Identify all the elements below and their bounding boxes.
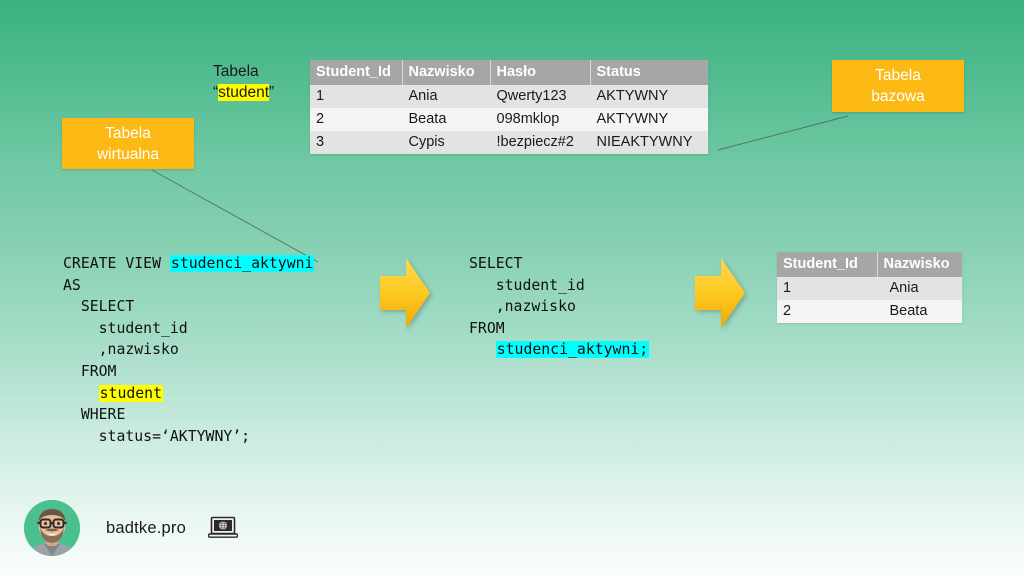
col-header-status: Status xyxy=(590,60,708,85)
sql-select-line3: ,nazwisko xyxy=(469,298,576,315)
sql-create-line7-indent xyxy=(63,385,99,402)
cell-nazwisko: Beata xyxy=(877,300,962,323)
sql-create-line5: ,nazwisko xyxy=(63,341,179,358)
callout-tabela-bazowa: Tabela bazowa xyxy=(832,60,964,112)
cell-haslo: 098mklop xyxy=(490,108,590,131)
avatar xyxy=(24,500,80,556)
cell-nazwisko: Ania xyxy=(402,85,490,108)
footer-branding: badtke.pro xyxy=(24,500,238,556)
cell-nazwisko: Ania xyxy=(877,277,962,300)
cell-haslo: !bezpiecz#2 xyxy=(490,131,590,154)
label-student-line1: Tabela xyxy=(213,61,274,82)
arrow-right-icon-1 xyxy=(380,258,430,333)
table-row: 1 Ania Qwerty123 AKTYWNY xyxy=(310,85,708,108)
sql-create-line1-keyword: CREATE VIEW xyxy=(63,255,170,272)
table-student-header-row: Student_Id Nazwisko Hasło Status xyxy=(310,60,708,85)
laptop-globe-icon xyxy=(208,516,238,540)
connector-virtual-to-view xyxy=(152,170,318,262)
table-row: 2 Beata xyxy=(777,300,962,323)
callout-virtual-line1: Tabela xyxy=(105,123,151,144)
table-result-view: Student_Id Nazwisko 1 Ania 2 Beata xyxy=(777,252,963,323)
sql-select-line4: FROM xyxy=(469,320,505,337)
footer-site-name: badtke.pro xyxy=(106,519,186,538)
arrow-right-icon-2 xyxy=(695,258,745,333)
cell-nazwisko: Beata xyxy=(402,108,490,131)
sql-create-line9: status=‘AKTYWNY’; xyxy=(63,428,250,445)
table-student-base: Student_Id Nazwisko Hasło Status 1 Ania … xyxy=(310,60,709,154)
col-header-nazwisko: Nazwisko xyxy=(877,252,962,277)
arrow-shape xyxy=(695,258,745,328)
sql-create-line4: student_id xyxy=(63,320,188,337)
cell-status: AKTYWNY xyxy=(590,85,708,108)
callout-virtual-line2: wirtualna xyxy=(97,144,159,165)
cell-student-id: 2 xyxy=(777,300,877,323)
label-student-line2: “student” xyxy=(213,82,274,103)
callout-tabela-wirtualna: Tabela wirtualna xyxy=(62,118,194,169)
table-row: 1 Ania xyxy=(777,277,962,300)
cell-student-id: 2 xyxy=(310,108,402,131)
quote-close: ” xyxy=(269,84,274,101)
arrow-shape xyxy=(380,258,430,328)
callout-base-line2: bazowa xyxy=(871,86,924,107)
table-row: 2 Beata 098mklop AKTYWNY xyxy=(310,108,708,131)
sql-create-table-name: student xyxy=(99,385,163,402)
cell-status: AKTYWNY xyxy=(590,108,708,131)
avatar-photo xyxy=(24,500,80,556)
cell-student-id: 1 xyxy=(777,277,877,300)
connector-base-to-table xyxy=(718,116,848,150)
sql-create-line3: SELECT xyxy=(63,298,134,315)
sql-select-line1: SELECT xyxy=(469,255,522,272)
col-header-student-id: Student_Id xyxy=(310,60,402,85)
table-result-header-row: Student_Id Nazwisko xyxy=(777,252,962,277)
table-row: 3 Cypis !bezpiecz#2 NIEAKTYWNY xyxy=(310,131,708,154)
sql-create-view-name: studenci_aktywni xyxy=(170,255,315,272)
sql-select-line5-indent xyxy=(469,341,496,358)
col-header-haslo: Hasło xyxy=(490,60,590,85)
sql-select-line2: student_id xyxy=(469,277,585,294)
sql-create-line8: WHERE xyxy=(63,406,125,423)
cell-nazwisko: Cypis xyxy=(402,131,490,154)
col-header-nazwisko: Nazwisko xyxy=(402,60,490,85)
cell-student-id: 3 xyxy=(310,131,402,154)
sql-create-line6: FROM xyxy=(63,363,116,380)
cell-haslo: Qwerty123 xyxy=(490,85,590,108)
cell-status: NIEAKTYWNY xyxy=(590,131,708,154)
callout-base-line1: Tabela xyxy=(875,65,921,86)
sql-create-view-block: CREATE VIEW studenci_aktywni AS SELECT s… xyxy=(63,253,314,447)
cell-student-id: 1 xyxy=(310,85,402,108)
col-header-student-id: Student_Id xyxy=(777,252,877,277)
sql-select-block: SELECT student_id ,nazwisko FROM studenc… xyxy=(469,253,649,361)
label-student-highlight: student xyxy=(218,84,269,101)
sql-create-line2: AS xyxy=(63,277,81,294)
label-tabela-student: Tabela “student” xyxy=(213,61,274,103)
sql-select-view-name: studenci_aktywni; xyxy=(496,341,649,358)
